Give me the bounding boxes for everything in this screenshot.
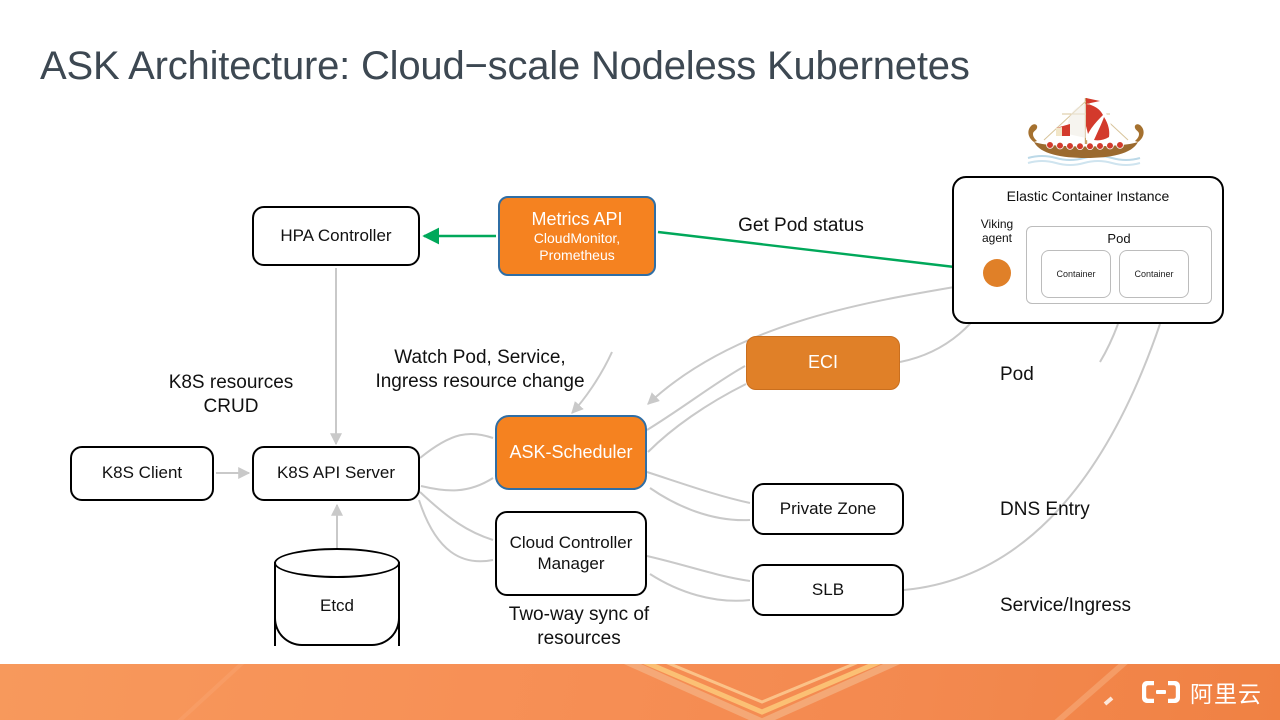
wire-apiserver-to-scheduler (420, 434, 493, 458)
wire-eci-to-scheduler (648, 384, 746, 452)
container-cell-label: Container (1134, 269, 1173, 279)
node-ask-scheduler[interactable]: ASK-Scheduler (495, 415, 647, 490)
eci-card-title: Elastic Container Instance (954, 188, 1222, 204)
annotation-dns-entry: DNS Entry (1000, 498, 1180, 522)
node-slb[interactable]: SLB (752, 564, 904, 616)
annotation-k8s-resources-crud: K8S resources CRUD (138, 371, 324, 419)
node-etcd-label: Etcd (274, 596, 400, 616)
footer-bar: 阿里云 (0, 664, 1280, 720)
node-k8s-api-server[interactable]: K8S API Server (252, 446, 420, 501)
viking-agent-label-line1: Viking (981, 217, 1013, 231)
annotation-watch-resources: Watch Pod, Service, Ingress resource cha… (340, 346, 620, 394)
viking-ship-icon (1022, 92, 1150, 170)
container-cell-label: Container (1056, 269, 1095, 279)
wire-apiserver-to-ccm (420, 492, 493, 540)
node-private-zone[interactable]: Private Zone (752, 483, 904, 535)
annotation-service-ingress: Service/Ingress (1000, 594, 1210, 618)
viking-agent-node-icon[interactable] (983, 259, 1011, 287)
node-k8s-client-label: K8S Client (102, 463, 182, 483)
annotation-two-way-sync: Two-way sync of resources (468, 603, 690, 651)
node-hpa-controller[interactable]: HPA Controller (252, 206, 420, 266)
etcd-cylinder-top (274, 548, 400, 578)
wire-ccm-to-slb (647, 556, 750, 581)
slide-canvas: ASK Architecture: Cloud−scale Nodeless K… (0, 0, 1280, 720)
node-ccm-label-line1: Cloud Controller (510, 533, 633, 553)
node-k8s-api-server-label: K8S API Server (277, 463, 395, 483)
container-cell[interactable]: Container (1041, 250, 1111, 298)
node-etcd[interactable]: Etcd (274, 548, 400, 646)
annotation-get-pod-status: Get Pod status (706, 214, 896, 238)
wire-scheduler-to-private-zone (647, 472, 750, 503)
wire-scheduler-to-apiserver (421, 478, 493, 490)
wire-eci-card-to-pod-label (1100, 324, 1118, 362)
node-metrics-api[interactable]: Metrics API CloudMonitor, Prometheus (498, 196, 656, 276)
viking-agent-label-line2: agent (982, 231, 1012, 245)
node-slb-label: SLB (812, 580, 844, 600)
viking-agent-label: Viking agent (966, 218, 1028, 246)
node-metrics-api-sub-prometheus: Prometheus (539, 247, 614, 264)
node-ccm-label-line2: Manager (510, 554, 633, 574)
annotation-pod: Pod (1000, 363, 1120, 387)
node-eci[interactable]: ECI (746, 336, 900, 390)
node-metrics-api-label: Metrics API (531, 209, 622, 230)
etcd-cylinder-bottom (274, 618, 400, 646)
node-eci-label: ECI (808, 352, 838, 373)
pod-card-title: Pod (1027, 231, 1211, 246)
alibaba-cloud-logo-icon (1141, 679, 1181, 705)
elastic-container-instance-card[interactable]: Elastic Container Instance Viking agent … (952, 176, 1224, 324)
brand-lockup: 阿里云 (1141, 675, 1262, 709)
node-hpa-controller-label: HPA Controller (280, 226, 391, 246)
container-cell[interactable]: Container (1119, 250, 1189, 298)
wire-private-zone-to-scheduler (650, 488, 750, 520)
node-private-zone-label: Private Zone (780, 499, 876, 519)
wire-ccm-to-apiserver (419, 500, 493, 561)
node-k8s-client[interactable]: K8S Client (70, 446, 214, 501)
footer-chevron-pattern (0, 664, 1280, 720)
node-cloud-controller-manager[interactable]: Cloud Controller Manager (495, 511, 647, 596)
node-ask-scheduler-label: ASK-Scheduler (509, 442, 632, 463)
brand-text: 阿里云 (1190, 675, 1262, 709)
pod-card[interactable]: Pod Container Container (1026, 226, 1212, 304)
wire-scheduler-to-eci (647, 366, 745, 430)
node-metrics-api-sub-cloudmonitor: CloudMonitor, (534, 230, 620, 247)
